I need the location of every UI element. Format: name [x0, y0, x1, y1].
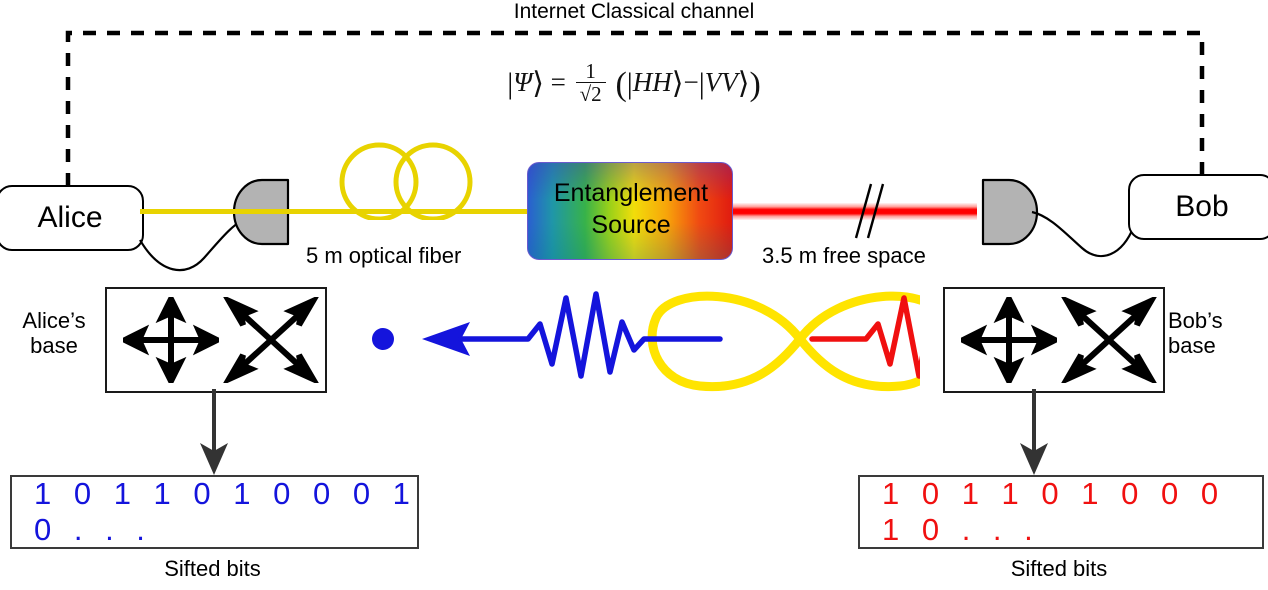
- alice-sifted-bits-box: 1 0 1 1 0 1 0 0 0 1 0 . . .: [10, 475, 419, 549]
- alice-base-box[interactable]: [105, 287, 327, 393]
- formula-vv-ket: ⟩: [738, 67, 750, 100]
- formula-hh-term: HH: [633, 67, 672, 97]
- bob-node-box[interactable]: Bob: [1128, 174, 1268, 240]
- alice-base-to-bits-arrow: [196, 389, 232, 477]
- bob-sifted-bits-box: 1 0 1 1 0 1 0 0 0 1 0 . . .: [858, 475, 1264, 549]
- formula-equals: =: [551, 67, 566, 97]
- entanglement-source-label: Entanglement Source: [528, 177, 734, 241]
- formula-paren-close: ): [749, 66, 760, 103]
- rectilinear-basis-icon: [123, 297, 219, 383]
- alice-base-label: Alice’s base: [8, 308, 100, 359]
- entanglement-source-label-line1: Entanglement: [554, 179, 708, 207]
- bob-base-label: Bob’s base: [1168, 308, 1268, 359]
- alice-sifted-bits-caption: Sifted bits: [10, 556, 415, 581]
- alice-base-label-line2: base: [30, 333, 78, 358]
- entangled-photon-pair-graphic: [360, 278, 920, 400]
- bob-sifted-bits-caption: Sifted bits: [858, 556, 1260, 581]
- bob-sifted-bits-value: 1 0 1 1 0 1 0 0 0 1 0 . . .: [860, 476, 1262, 548]
- bob-base-label-line1: Bob’s: [1168, 308, 1223, 333]
- formula-psi-symbol: Ψ: [513, 67, 532, 97]
- free-space-length-label: 3.5 m free space: [762, 243, 926, 268]
- formula-ket-close: ⟩: [532, 67, 544, 100]
- alice-sifted-bits-value: 1 0 1 1 0 1 0 0 0 1 0 . . .: [12, 476, 417, 548]
- formula-denominator: √2: [576, 82, 606, 105]
- bob-detector-cable: [1030, 186, 1140, 266]
- fiber-coil-loops-icon: [330, 140, 490, 220]
- formula-fraction: 1 √2: [576, 60, 606, 105]
- entanglement-source-label-line2: Source: [591, 211, 670, 239]
- diagonal-basis-icon: [1061, 297, 1157, 383]
- bob-base-to-bits-arrow: [1016, 389, 1052, 477]
- bob-base-label-line2: base: [1168, 333, 1216, 358]
- diagonal-basis-icon: [223, 297, 319, 383]
- qkd-setup-diagram: Internet Classical channel |Ψ⟩ = 1 √2 (|…: [0, 0, 1268, 590]
- alice-base-label-line1: Alice’s: [22, 308, 85, 333]
- fiber-length-label: 5 m optical fiber: [306, 243, 461, 268]
- beam-break-marks-icon: [840, 178, 890, 244]
- formula-minus: −: [684, 67, 699, 97]
- bob-base-box[interactable]: [943, 287, 1165, 393]
- quantum-state-formula: |Ψ⟩ = 1 √2 (|HH⟩−|VV⟩): [0, 62, 1268, 107]
- alice-photon-dot: [372, 328, 394, 350]
- formula-hh-ket: ⟩: [672, 67, 684, 100]
- bob-label: Bob: [1175, 190, 1228, 224]
- formula-paren-open: (: [615, 66, 626, 103]
- rectilinear-basis-icon: [961, 297, 1057, 383]
- alice-node-box[interactable]: Alice: [0, 185, 144, 251]
- formula-numerator: 1: [576, 60, 606, 82]
- entanglement-source-box[interactable]: Entanglement Source: [527, 162, 733, 260]
- formula-vv-term: VV: [705, 67, 738, 97]
- alice-label: Alice: [37, 201, 102, 235]
